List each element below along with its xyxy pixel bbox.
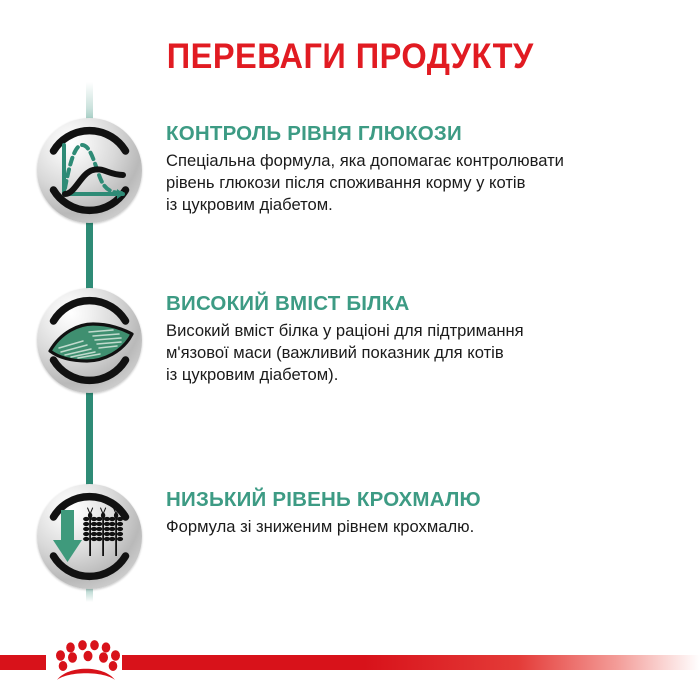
feature-item-high-protein: ВИСОКИЙ ВМІСТ БІЛКА Високий вміст білка … (0, 288, 700, 428)
feature-copy: ВИСОКИЙ ВМІСТ БІЛКА Високий вміст білка … (166, 293, 671, 386)
feature-heading: КОНТРОЛЬ РІВНЯ ГЛЮКОЗИ (166, 123, 671, 146)
feature-heading: ВИСОКИЙ ВМІСТ БІЛКА (166, 293, 671, 316)
wheat-down-arrow-icon (37, 484, 142, 589)
feature-item-glucose-control: КОНТРОЛЬ РІВНЯ ГЛЮКОЗИ Спеціальна формул… (0, 118, 700, 258)
feature-body: Спеціальна формула, яка допомагає контро… (166, 150, 671, 216)
royal-canin-crown-logo (44, 640, 128, 684)
feature-body: Формула зі зниженим рівнем крохмалю. (166, 516, 671, 538)
muscle-fiber-icon (37, 288, 142, 393)
feature-icon-badge (37, 118, 142, 223)
feature-icon-badge (37, 288, 142, 393)
feature-copy: КОНТРОЛЬ РІВНЯ ГЛЮКОЗИ Спеціальна формул… (166, 123, 671, 216)
product-benefits-page: ПЕРЕВАГИ ПРОДУКТУ (0, 0, 700, 700)
page-title: ПЕРЕВАГИ ПРОДУКТУ (167, 39, 534, 74)
feature-heading: НИЗЬКИЙ РІВЕНЬ КРОХМАЛЮ (166, 489, 671, 512)
feature-copy: НИЗЬКИЙ РІВЕНЬ КРОХМАЛЮ Формула зі зниже… (166, 489, 671, 538)
feature-body: Високий вміст білка у раціоні для підтри… (166, 320, 671, 386)
page-title-bar: ПЕРЕВАГИ ПРОДУКТУ (0, 16, 700, 98)
feature-icon-badge (37, 484, 142, 589)
feature-item-low-starch: НИЗЬКИЙ РІВЕНЬ КРОХМАЛЮ Формула зі зниже… (0, 484, 700, 624)
glucose-curve-icon (37, 118, 142, 223)
